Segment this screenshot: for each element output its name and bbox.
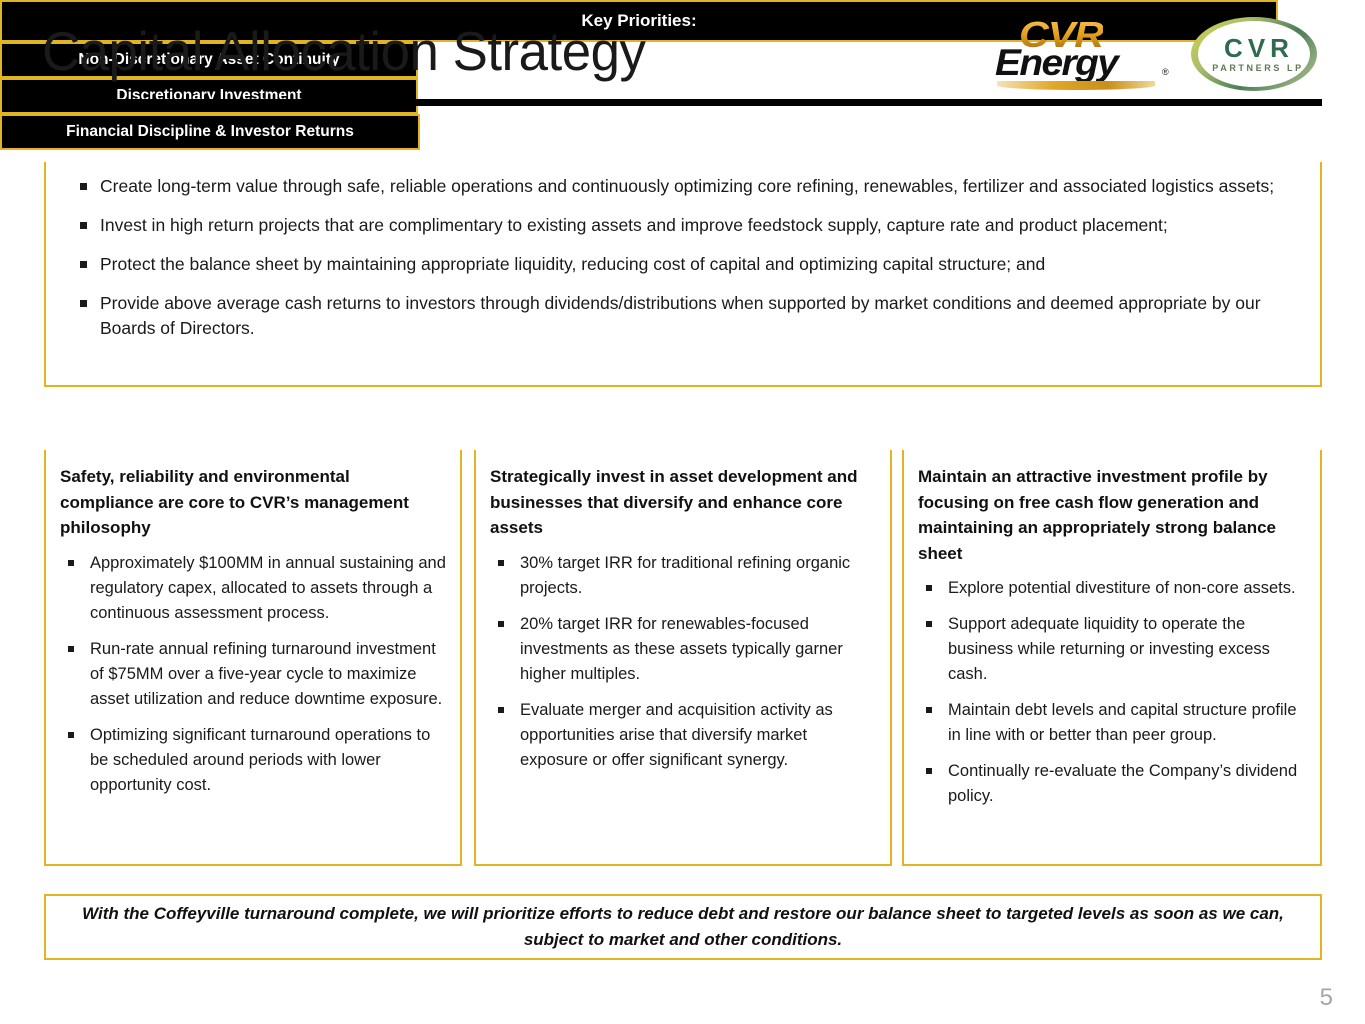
square-bullet-icon: [926, 585, 932, 591]
page-number: 5: [1320, 984, 1333, 1012]
title-divider-rule: [42, 99, 1322, 106]
cvr-energy-registered-mark-icon: ®: [1162, 67, 1169, 77]
footer-callout-box: With the Coffeyville turnaround complete…: [44, 894, 1322, 960]
column-header-financial-discipline-investor-returns: Financial Discipline & Investor Returns: [0, 114, 420, 150]
list-item: Run-rate annual refining turnaround inve…: [60, 637, 446, 712]
key-priorities-list: Create long-term value through safe, rel…: [62, 174, 1304, 341]
square-bullet-icon: [68, 732, 74, 738]
square-bullet-icon: [80, 183, 87, 190]
list-item-text: Protect the balance sheet by maintaining…: [100, 254, 1045, 274]
cvr-partners-logo-cvr-text: CVR: [1211, 35, 1307, 61]
square-bullet-icon: [498, 621, 504, 627]
cvr-energy-logo: CVR Energy ®: [995, 15, 1175, 93]
cvr-energy-logo-energy-text: Energy: [995, 44, 1117, 82]
list-item: Maintain debt levels and capital structu…: [918, 698, 1306, 748]
list-item-text: Continually re-evaluate the Company’s di…: [948, 762, 1297, 805]
column-bullet-list: 30% target IRR for traditional refining …: [490, 551, 876, 773]
list-item-text: Run-rate annual refining turnaround inve…: [90, 640, 442, 708]
list-item: 20% target IRR for renewables-focused in…: [490, 612, 876, 687]
column-lead-text: Maintain an attractive investment profil…: [918, 464, 1306, 566]
column-header-label: Financial Discipline & Investor Returns: [66, 123, 354, 141]
list-item-text: Maintain debt levels and capital structu…: [948, 701, 1297, 744]
square-bullet-icon: [926, 621, 932, 627]
column-bullet-list: Explore potential divestiture of non-cor…: [918, 576, 1306, 809]
page-title: Capital Allocation Strategy: [42, 18, 645, 84]
list-item-text: Provide above average cash returns to in…: [100, 293, 1261, 338]
list-item-text: Optimizing significant turnaround operat…: [90, 726, 430, 794]
list-item: 30% target IRR for traditional refining …: [490, 551, 876, 601]
square-bullet-icon: [68, 560, 74, 566]
list-item: Explore potential divestiture of non-cor…: [918, 576, 1306, 601]
square-bullet-icon: [80, 261, 87, 268]
square-bullet-icon: [926, 707, 932, 713]
list-item: Create long-term value through safe, rel…: [62, 174, 1304, 199]
square-bullet-icon: [80, 222, 87, 229]
logo-group: CVR Energy ® CVR PARTNERS LP ®: [995, 12, 1321, 96]
square-bullet-icon: [80, 300, 87, 307]
list-item-text: Approximately $100MM in annual sustainin…: [90, 554, 446, 622]
cvr-partners-logo-subtitle: PARTNERS LP: [1209, 63, 1307, 73]
list-item: Support adequate liquidity to operate th…: [918, 612, 1306, 687]
square-bullet-icon: [498, 560, 504, 566]
list-item: Optimizing significant turnaround operat…: [60, 723, 446, 798]
column-lead-text: Safety, reliability and environmental co…: [60, 464, 446, 541]
list-item-text: Invest in high return projects that are …: [100, 215, 1168, 235]
list-item: Invest in high return projects that are …: [62, 213, 1304, 238]
footer-callout-text: With the Coffeyville turnaround complete…: [72, 901, 1294, 953]
cvr-partners-logo: CVR PARTNERS LP ®: [1189, 13, 1321, 95]
list-item-text: Evaluate merger and acquisition activity…: [520, 701, 833, 769]
column-body-non-discretionary-asset-continuity: Safety, reliability and environmental co…: [44, 450, 462, 866]
list-item: Protect the balance sheet by maintaining…: [62, 252, 1304, 277]
list-item-text: Support adequate liquidity to operate th…: [948, 615, 1270, 683]
list-item: Approximately $100MM in annual sustainin…: [60, 551, 446, 626]
slide-header: Capital Allocation Strategy CVR Energy ®…: [0, 0, 1365, 110]
list-item-text: Create long-term value through safe, rel…: [100, 176, 1274, 196]
column-body-financial-discipline-investor-returns: Maintain an attractive investment profil…: [902, 450, 1322, 866]
list-item-text: 30% target IRR for traditional refining …: [520, 554, 850, 597]
key-priorities-body: Create long-term value through safe, rel…: [44, 162, 1322, 387]
list-item: Evaluate merger and acquisition activity…: [490, 698, 876, 773]
cvr-energy-swoosh-icon: [997, 81, 1155, 90]
square-bullet-icon: [926, 768, 932, 774]
square-bullet-icon: [68, 646, 74, 652]
cvr-partners-registered-mark-icon: ®: [1302, 33, 1307, 40]
column-lead-text: Strategically invest in asset developmen…: [490, 464, 876, 541]
column-body-discretionary-investment: Strategically invest in asset developmen…: [474, 450, 892, 866]
column-bullet-list: Approximately $100MM in annual sustainin…: [60, 551, 446, 798]
list-item: Continually re-evaluate the Company’s di…: [918, 759, 1306, 809]
list-item-text: Explore potential divestiture of non-cor…: [948, 579, 1296, 597]
list-item-text: 20% target IRR for renewables-focused in…: [520, 615, 843, 683]
list-item: Provide above average cash returns to in…: [62, 291, 1304, 341]
square-bullet-icon: [498, 707, 504, 713]
